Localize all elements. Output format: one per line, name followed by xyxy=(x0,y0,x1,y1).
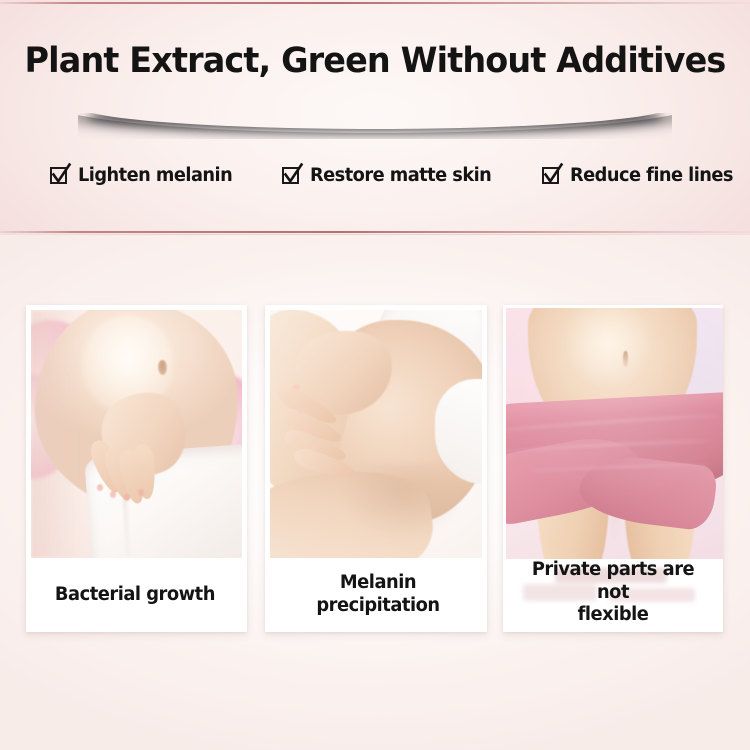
photo-glow-overlay xyxy=(506,308,723,559)
card-caption-text: Bacterial growth xyxy=(55,584,215,607)
divider-outer-curve xyxy=(78,113,672,133)
problem-card-private-parts-not-flexible[interactable]: Private parts are not flexible xyxy=(503,305,723,632)
checkbox-checked-icon xyxy=(542,165,563,186)
card-caption-area: Bacterial growth xyxy=(26,558,247,632)
fingernail-shape xyxy=(124,494,130,501)
band-top-rule xyxy=(0,2,750,4)
feature-label: Restore matte skin xyxy=(310,165,491,186)
hip-shading xyxy=(342,464,465,538)
feature-item-restore-matte-skin: Restore matte skin xyxy=(282,165,499,186)
checkbox-checked-icon xyxy=(50,165,71,186)
page-title: Plant Extract, Green Without Additives xyxy=(17,41,733,81)
checkbox-checked-icon xyxy=(282,165,303,186)
problem-card-melanin-precipitation[interactable]: Melanin precipitation xyxy=(265,305,487,632)
band-bottom-soft-rule xyxy=(0,234,750,235)
fingernail-shape xyxy=(298,407,305,413)
title-divider-shadow xyxy=(78,113,672,139)
problem-card-bacterial-growth[interactable]: Bacterial growth xyxy=(26,305,247,632)
fingernail-shape xyxy=(302,427,309,433)
card-caption-text: Private parts are not flexible xyxy=(517,559,710,627)
promotional-banner: Plant Extract, Green Without Additives L… xyxy=(0,0,750,750)
card-photo-private-parts xyxy=(506,308,723,559)
fingernail-shape xyxy=(138,489,144,496)
card-caption-text: Melanin precipitation xyxy=(282,572,473,617)
feature-label: Lighten melanin xyxy=(78,165,232,186)
feature-label: Reduce fine lines xyxy=(570,165,733,186)
header-band: Plant Extract, Green Without Additives L… xyxy=(0,0,750,235)
card-photo-melanin-precipitation xyxy=(270,310,482,558)
left-edge-shading xyxy=(31,310,82,558)
card-photo-bacterial-growth xyxy=(31,310,242,558)
feature-item-reduce-fine-lines: Reduce fine lines xyxy=(542,165,740,186)
card-caption-line-2: flexible xyxy=(578,604,649,625)
card-caption-line-1: Private parts are not xyxy=(532,559,694,603)
divider-inner-curve xyxy=(78,113,672,129)
card-caption-area: Melanin precipitation xyxy=(265,558,487,632)
card-caption-area: Private parts are not flexible xyxy=(503,558,723,632)
band-bottom-rule xyxy=(0,231,750,233)
feature-item-lighten-melanin: Lighten melanin xyxy=(50,165,239,186)
feature-checklist: Lighten melanin Restore matte skin xyxy=(50,157,740,193)
navel-shape xyxy=(158,360,167,375)
